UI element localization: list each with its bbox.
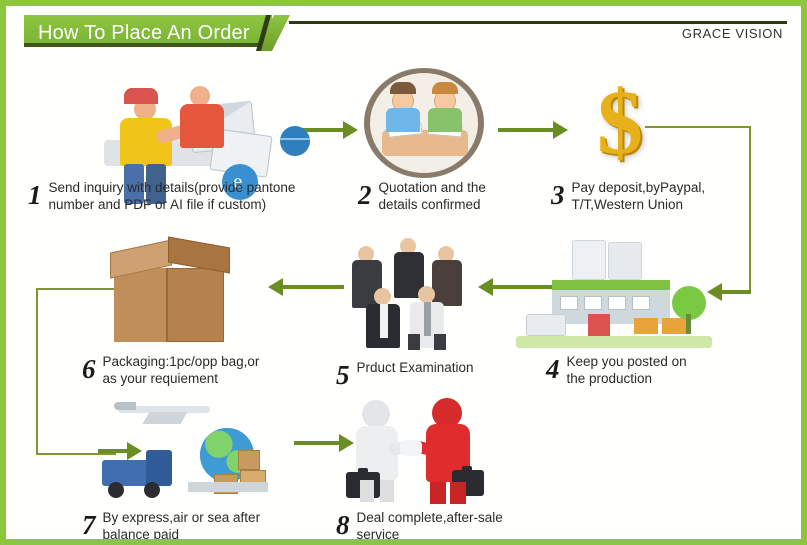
step-4-caption: 4 Keep you posted on the production [546, 354, 746, 388]
inspection-team-illustration [342, 234, 468, 352]
arrow-step5-to-step6 [268, 278, 344, 296]
step-2-number: 2 [358, 182, 372, 209]
header-rule [289, 21, 787, 24]
dollar-sign-illustration: $ [572, 68, 668, 178]
step-1-text: Send inquiry with details(provide panton… [49, 180, 296, 214]
step-5-text: Prduct Examination [357, 360, 474, 377]
step-7-caption: 7 By express,air or sea after balance pa… [82, 510, 312, 544]
arrow-step2-to-step3 [498, 121, 570, 139]
brand-name: GRACE VISION [682, 26, 783, 41]
step-2-text: Quotation and the details confirmed [379, 180, 486, 214]
infographic-canvas: How To Place An Order GRACE VISION [6, 6, 801, 539]
step-1-caption: 1 Send inquiry with details(provide pant… [28, 180, 328, 214]
step-8-caption: 8 Deal complete,after-sale service [336, 510, 556, 544]
step-3-number: 3 [551, 182, 565, 209]
step-4-text: Keep you posted on the production [567, 354, 687, 388]
shipping-logistics-illustration [88, 398, 280, 508]
step-6-number: 6 [82, 356, 96, 383]
step-7-text: By express,air or sea after balance paid [103, 510, 261, 544]
step-1-number: 1 [28, 182, 42, 209]
step-3-caption: 3 Pay deposit,byPaypal, T/T,Western Unio… [551, 180, 751, 214]
step-8-number: 8 [336, 512, 350, 539]
quotation-meeting-illustration [364, 68, 488, 178]
step-3-text: Pay deposit,byPaypal, T/T,Western Union [572, 180, 706, 214]
order-process-infographic: How To Place An Order GRACE VISION [0, 0, 807, 545]
inquiry-email-illustration: e [94, 68, 274, 178]
step-8-text: Deal complete,after-sale service [357, 510, 503, 544]
step-6-caption: 6 Packaging:1pc/opp bag,or as your requi… [82, 354, 312, 388]
page-title: How To Place An Order [38, 18, 250, 48]
step-6-text: Packaging:1pc/opp bag,or as your requiem… [103, 354, 260, 388]
step-7-number: 7 [82, 512, 96, 539]
step-5-caption: 5 Prduct Examination [336, 360, 536, 389]
factory-production-illustration [516, 240, 716, 352]
handshake-deal-illustration [346, 398, 486, 508]
step-4-number: 4 [546, 356, 560, 383]
step-5-number: 5 [336, 362, 350, 389]
step-2-caption: 2 Quotation and the details confirmed [358, 180, 538, 214]
carton-box-illustration [110, 232, 238, 348]
